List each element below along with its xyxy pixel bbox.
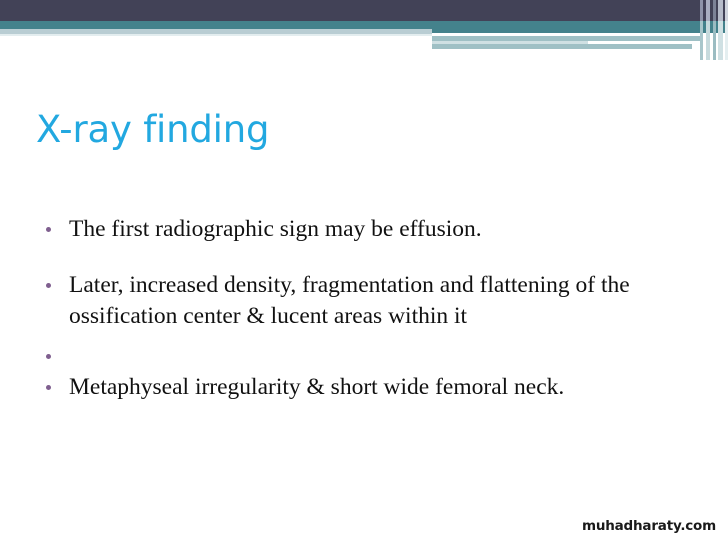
slide-canvas: X-ray finding The first radiographic sig… xyxy=(0,0,728,546)
header-vertical-gap-1 xyxy=(703,33,706,60)
list-item: Metaphyseal irregularity & short wide fe… xyxy=(36,372,676,403)
header-vertical-gap-4 xyxy=(723,33,725,60)
list-item: Later, increased density, fragmentation … xyxy=(36,270,676,332)
header-decoration xyxy=(0,0,728,60)
header-vertical-gap-2 xyxy=(710,33,713,60)
list-item xyxy=(36,341,676,372)
content-bullet-list: The first radiographic sign may be effus… xyxy=(36,214,676,403)
header-bar-hairline-left xyxy=(0,34,432,36)
header-bar-teal-right xyxy=(432,29,728,33)
header-bar-pale-left xyxy=(0,29,432,34)
header-bar-dark xyxy=(0,0,728,21)
footer-brand: muhadharaty.com xyxy=(582,518,716,534)
header-vertical-gap-3 xyxy=(716,33,718,60)
header-bar-light-lower-right xyxy=(432,44,692,49)
list-item: The first radiographic sign may be effus… xyxy=(36,214,676,245)
page-title: X-ray finding xyxy=(36,108,269,151)
